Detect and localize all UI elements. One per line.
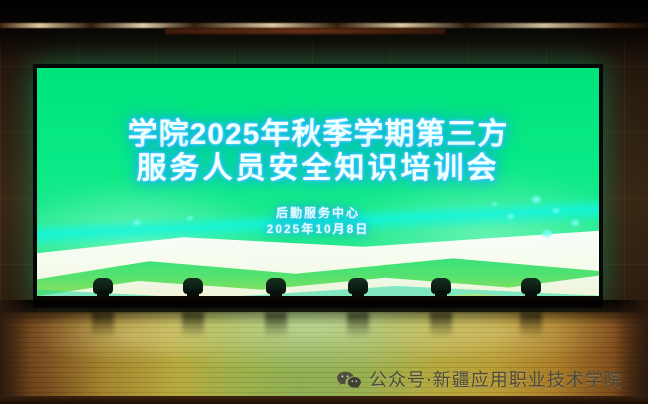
wechat-icon xyxy=(336,370,362,389)
presentation-title: 学院2025年秋季学期第三方 服务人员安全知识培训会 xyxy=(128,118,509,186)
presentation-subtitle: 后勤服务中心 2025年10月8日 xyxy=(267,206,370,238)
light-reflection xyxy=(520,312,542,338)
watermark-text: 公众号·新疆应用职业技术学院 xyxy=(369,366,623,392)
subtitle-date: 2025年10月8日 xyxy=(267,222,370,238)
light-reflection xyxy=(430,312,452,338)
watermark: 公众号·新疆应用职业技术学院 xyxy=(336,366,623,392)
stage-photo-scene: 学院2025年秋季学期第三方 服务人员安全知识培训会 后勤服务中心 2025年1… xyxy=(0,0,648,404)
ceiling-beam xyxy=(165,28,445,34)
light-reflection xyxy=(265,312,287,338)
light-reflection xyxy=(347,312,369,338)
wall-corner-left xyxy=(0,300,30,404)
title-line-1: 学院2025年秋季学期第三方 xyxy=(128,118,509,152)
floor-front-edge xyxy=(0,396,648,404)
title-line-2: 服务人员安全知识培训会 xyxy=(128,152,509,186)
light-reflection xyxy=(182,312,204,338)
subtitle-organization: 后勤服务中心 xyxy=(267,206,370,222)
screen-text-block: 学院2025年秋季学期第三方 服务人员安全知识培训会 后勤服务中心 2025年1… xyxy=(37,68,599,296)
light-reflection xyxy=(92,312,114,338)
led-screen: 学院2025年秋季学期第三方 服务人员安全知识培训会 后勤服务中心 2025年1… xyxy=(37,68,599,296)
